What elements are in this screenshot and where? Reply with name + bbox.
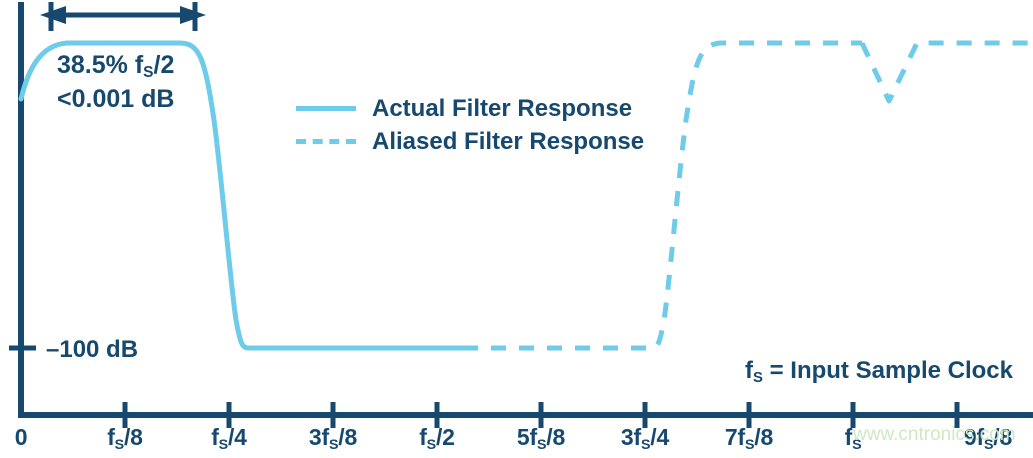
x-tick-label-3: 3fS/8 [309,424,357,451]
aliased-response-notch [862,43,1033,101]
x-tick-label-4: fS/2 [419,424,455,451]
passband-annotation: 38.5% fS/2 <0.001 dB [57,50,174,114]
x-tick-label-7: 7fS/8 [725,424,773,451]
legend-item-aliased: Aliased Filter Response [296,125,644,158]
passband-annotation-line2: <0.001 dB [57,84,174,114]
legend-label-aliased: Aliased Filter Response [372,128,644,156]
legend-item-actual: Actual Filter Response [296,92,644,125]
floor-level-label: –100 dB [46,336,138,364]
fs-definition-note: fS = Input Sample Clock [745,357,1013,385]
x-tick-label-1: fS/8 [107,424,143,451]
legend-swatch-dashed [296,139,356,144]
x-tick-label-0: 0 [15,424,28,451]
filter-response-chart: 38.5% fS/2 <0.001 dB –100 dB fS = Input … [0,0,1033,458]
aliased-filter-response-curve [463,43,862,348]
x-tick-label-9: 9fS/8 [964,424,1012,451]
passband-annotation-line1: 38.5% fS/2 [57,50,174,84]
chart-legend: Actual Filter Response Aliased Filter Re… [296,92,644,158]
x-tick-label-8: fS [845,424,862,451]
x-tick-label-6: 3fS/4 [621,424,669,451]
x-tick-label-5: 5fS/8 [517,424,565,451]
legend-swatch-solid [296,106,356,111]
passband-width-arrow [40,2,206,31]
x-tick-label-2: fS/4 [211,424,247,451]
legend-label-actual: Actual Filter Response [372,95,632,123]
